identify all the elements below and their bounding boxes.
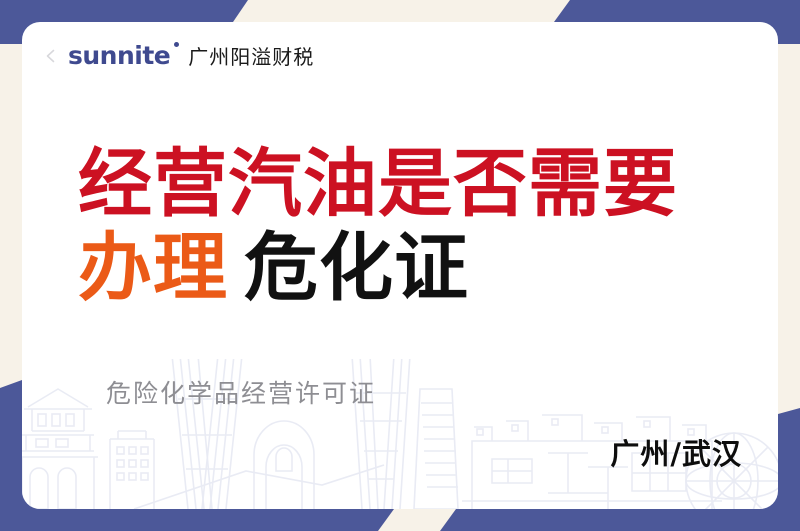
headline-line-1: 经营汽油是否需要 [78,142,758,226]
chevron-left-icon[interactable] [42,47,60,65]
app-header: sunnite 广州阳溢财税 [22,22,778,88]
subtitle-text: 危险化学品经营许可证 [106,374,376,410]
brand-logo-dot [174,42,179,47]
content-card: sunnite 广州阳溢财税 经营汽油是否需要 办理危化证 危险化学品经营许可证… [22,22,778,509]
headline-line-2: 办理危化证 [78,226,758,310]
headline-block: 经营汽油是否需要 办理危化证 [78,142,758,311]
brand-logo: sunnite [68,43,170,68]
brand-logo-text: sunnite [68,41,170,70]
poster-stage: sunnite 广州阳溢财税 经营汽油是否需要 办理危化证 危险化学品经营许可证… [0,0,800,531]
city-label: 广州/武汉 [610,431,742,473]
brand-name-cn: 广州阳溢财税 [188,41,314,70]
headline-emphasis: 办理 [78,225,228,311]
headline-rest: 危化证 [244,225,469,311]
